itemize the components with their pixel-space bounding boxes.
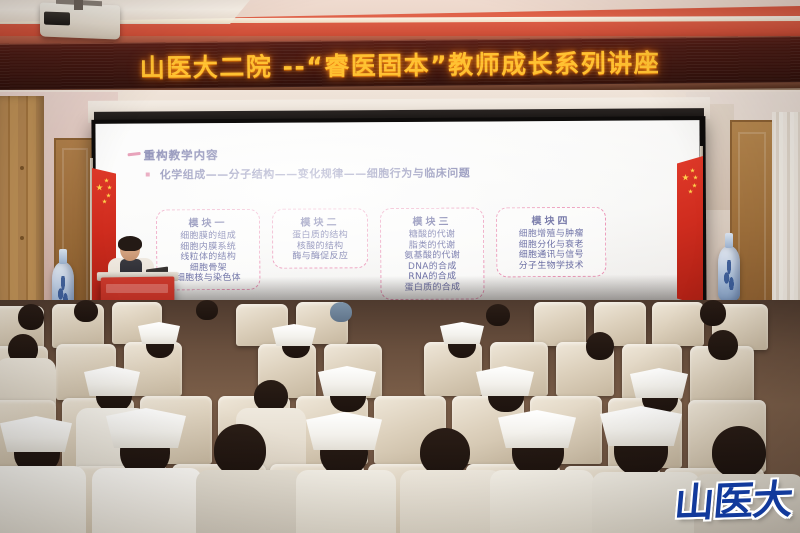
nurse-cap [600,406,682,446]
audience-head [586,332,614,360]
led-banner-text: 山医大二院 --“睿医固本”教师成长系列讲座 [140,44,661,85]
module-item: 酶与酶促反应 [278,251,362,262]
audience-body [92,468,202,533]
audience-body [296,470,396,533]
module-item: 细胞增殖与肿瘤 [502,229,600,240]
chair [534,302,586,346]
bullet-square-icon [146,173,150,177]
audience-head [196,300,218,320]
module-item: 蛋白质的结构 [278,230,362,241]
nurse-cap [0,416,72,452]
curtain-right [772,112,800,327]
podium-nameplate [106,284,168,293]
module-item: 细胞通讯与信号 [502,250,600,261]
audience-head [214,424,266,476]
projector-lens-icon [44,12,70,26]
audience-body [0,358,56,406]
module-item: 细胞分化与衰老 [502,239,600,250]
audience-body [400,470,502,533]
nurse-cap [630,368,688,398]
module-title: 模块四 [502,212,600,228]
projector-mount-bracket [74,0,83,10]
module-item: 糖酸的代谢 [386,230,478,241]
audience-head [18,304,44,330]
nurse-cap [272,324,316,346]
nurse-cap [318,366,376,396]
module-item: 蛋白质的合成 [386,283,478,294]
module-item: 细胞内膜系统 [162,241,254,252]
nurse-cap [306,412,382,450]
presentation-slide: 重构教学内容 化学组成——分子结构——变化规律——细胞行为与临床问题 模块一 细… [95,120,700,312]
module-title: 模块二 [278,213,362,229]
speaker-hair [118,236,142,251]
module-item: 细胞膜的组成 [162,231,254,242]
audience-head [708,330,738,360]
audience-head [420,428,470,476]
porcelain-vase-right [718,246,740,302]
audience-head [486,304,510,326]
nurse-cap [476,366,534,396]
module-title: 模块三 [386,213,478,229]
audience-body [490,470,594,533]
wood-wall-panel-left [0,96,44,326]
module-item: 脂类的代谢 [386,240,478,251]
nurse-cap [84,366,140,396]
module-item: 核酸的结构 [278,241,362,252]
audience-head [74,300,98,322]
nurse-cap [498,410,576,448]
slide-heading: 重构教学内容 [144,147,219,163]
nurse-cap [138,322,180,344]
audience-body [196,470,302,533]
lecture-hall-photo: 山医大二院 --“睿医固本”教师成长系列讲座 重构教学内容 化学组成——分子结构… [0,0,800,533]
chinese-flag-right [677,156,703,306]
nurse-cap [440,322,484,344]
projection-screen: 重构教学内容 化学组成——分子结构——变化规律——细胞行为与临床问题 模块一 细… [95,120,700,312]
slide-subheading: 化学组成——分子结构——变化规律——细胞行为与临床问题 [160,165,471,183]
module-title: 模块一 [162,214,254,230]
slide-module-box: 模块四 细胞增殖与肿瘤 细胞分化与衰老 细胞通讯与信号 分子生物学技术 [496,207,606,278]
bullet-dash-icon [127,152,140,156]
module-item: RNA的合成 [386,272,478,283]
module-item: 线粒体的结构 [162,252,254,263]
module-item: 氨基酸的代谢 [386,251,478,262]
watermark-logo: 山医大 [672,467,795,529]
audience-head-capped [330,302,352,322]
audience-body [0,466,86,533]
module-item: 分子生物学技术 [502,261,600,272]
slide-module-box: 模块三 糖酸的代谢 脂类的代谢 氨基酸的代谢 DNA的合成 RNA的合成 蛋白质… [380,207,485,299]
nurse-cap [106,408,186,448]
audience-head [700,300,726,326]
chair [652,302,704,346]
slide-module-box: 模块二 蛋白质的结构 核酸的结构 酶与酶促反应 [272,208,368,268]
